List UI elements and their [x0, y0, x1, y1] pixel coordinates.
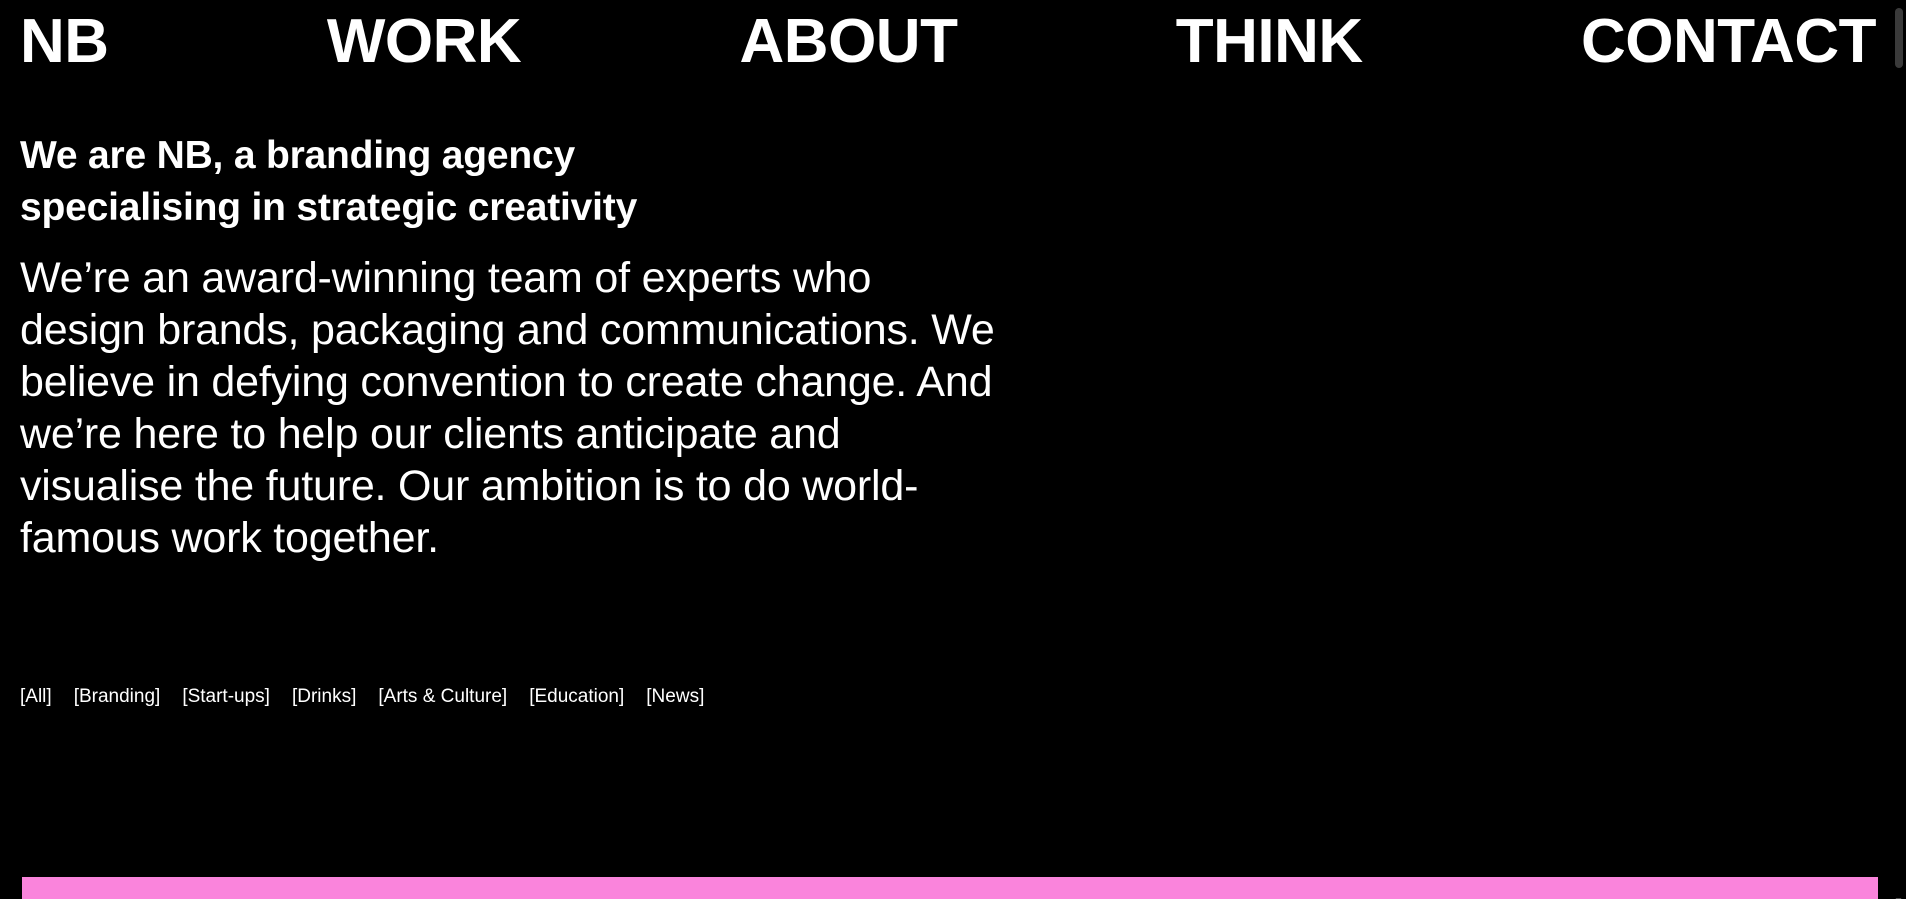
pink-banner: [22, 877, 1878, 899]
paragraph-line-2: design brands, packaging and communicati…: [20, 304, 1080, 356]
paragraph-line-5: visualise the future. Our ambition is to…: [20, 460, 1080, 512]
hero-paragraph: We’re an award-winning team of experts w…: [20, 252, 1080, 564]
nav-item-about[interactable]: ABOUT: [740, 11, 958, 73]
scrollbar-thumb[interactable]: [1895, 8, 1903, 68]
filter-tag-start-ups[interactable]: [Start-ups]: [182, 685, 270, 709]
scroll-down-arrow-icon[interactable]: [1895, 891, 1902, 898]
hero-headline: We are NB, a branding agency specialisin…: [20, 130, 840, 234]
filter-tag-education[interactable]: [Education]: [529, 685, 624, 709]
nav-item-contact[interactable]: CONTACT: [1581, 11, 1876, 73]
nav-item-work[interactable]: WORK: [327, 11, 521, 73]
paragraph-line-4: we’re here to help our clients anticipat…: [20, 408, 1080, 460]
page-root: NB WORK ABOUT THINK CONTACT We are NB, a…: [0, 0, 1906, 899]
vertical-scrollbar[interactable]: [1891, 0, 1906, 899]
nav-item-think[interactable]: THINK: [1176, 11, 1363, 73]
work-filter-list: [All] [Branding] [Start-ups] [Drinks] [A…: [20, 685, 704, 709]
main-navigation: NB WORK ABOUT THINK CONTACT: [20, 0, 1876, 84]
nav-item-nb[interactable]: NB: [20, 11, 109, 73]
filter-tag-all[interactable]: [All]: [20, 685, 52, 709]
filter-tag-arts-culture[interactable]: [Arts & Culture]: [378, 685, 507, 709]
headline-line-2: specialising in strategic creativity: [20, 182, 840, 234]
paragraph-line-1: We’re an award-winning team of experts w…: [20, 252, 1080, 304]
filter-tag-drinks[interactable]: [Drinks]: [292, 685, 356, 709]
paragraph-line-6: famous work together.: [20, 512, 1080, 564]
filter-tag-branding[interactable]: [Branding]: [74, 685, 161, 709]
filter-tag-news[interactable]: [News]: [646, 685, 704, 709]
paragraph-line-3: believe in defying convention to create …: [20, 356, 1080, 408]
headline-line-1: We are NB, a branding agency: [20, 130, 840, 182]
scroll-up-arrow-icon[interactable]: [1895, 1, 1902, 8]
